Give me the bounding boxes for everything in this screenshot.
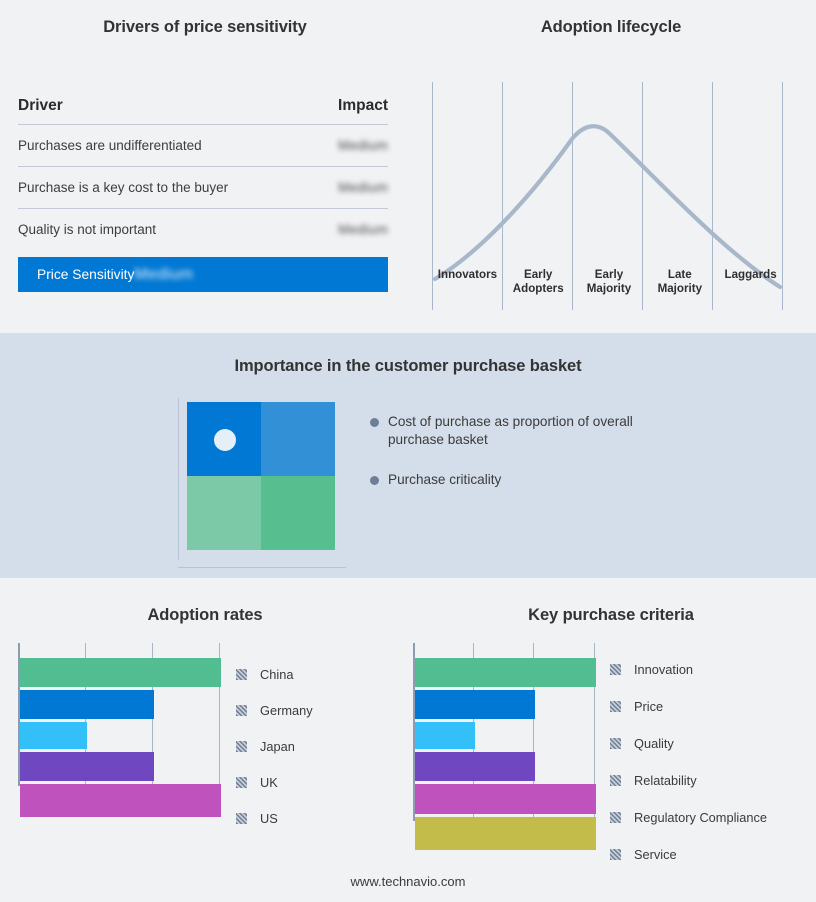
tick-label-text: Laggards: [724, 268, 776, 281]
bullet-dot-icon: [370, 476, 379, 485]
bar-uk: [20, 752, 154, 781]
legend-item-relatability: Relatability: [610, 773, 767, 788]
legend-item-innovation: Innovation: [610, 662, 767, 677]
tick-label-early-adopters: EarlyAdopters: [503, 268, 574, 295]
legend-item-china: China: [236, 667, 313, 682]
driver-name: Quality is not important: [18, 222, 296, 237]
purchase-basket-panel: Importance in the customer purchase bask…: [0, 333, 816, 578]
bar-us: [20, 784, 221, 817]
bar-price: [415, 690, 535, 719]
legend-item-quality: Quality: [610, 736, 767, 751]
bar-relatability: [415, 752, 535, 781]
legend-label: UK: [260, 775, 278, 790]
quadrant-x-axis: [178, 567, 346, 568]
legend-label: Innovation: [634, 662, 693, 677]
footer-url: www.technavio.com: [0, 874, 816, 889]
drivers-table-header: Driver Impact: [18, 88, 388, 124]
legend-label: Quality: [634, 736, 674, 751]
key-purchase-criteria-legend: Innovation Price Quality Relatability Re…: [610, 662, 767, 862]
table-row: Quality is not important Medium: [18, 209, 388, 250]
adoption-lifecycle-title: Adoption lifecycle: [406, 18, 816, 37]
adoption-lifecycle-panel: Adoption lifecycle Innovators EarlyAdopt…: [406, 0, 816, 320]
tick-label-early-majority: EarlyMajority: [574, 268, 645, 295]
quadrant-bottom-right: [261, 476, 335, 550]
legend-item: Purchase criticality: [370, 471, 670, 489]
legend-item: Cost of purchase as proportion of overal…: [370, 413, 670, 449]
adoption-rates-legend: China Germany Japan UK US: [236, 667, 313, 826]
legend-item-service: Service: [610, 847, 767, 862]
legend-item-us: US: [236, 811, 313, 826]
bullet-dot-icon: [370, 418, 379, 427]
driver-impact: Medium: [296, 138, 388, 153]
tick-label-text: Innovators: [438, 268, 497, 281]
legend-item-label: Purchase criticality: [388, 471, 501, 489]
driver-name: Purchase is a key cost to the buyer: [18, 180, 296, 195]
tick-label-late-majority: LateMajority: [644, 268, 715, 295]
quadrant-grid: [187, 402, 335, 550]
adoption-rates-title: Adoption rates: [0, 606, 410, 625]
driver-name: Purchases are undifferentiated: [18, 138, 296, 153]
bar-innovation: [415, 658, 596, 687]
key-purchase-criteria-plot: [413, 643, 598, 821]
legend-label: Germany: [260, 703, 313, 718]
legend-label: US: [260, 811, 278, 826]
legend-label: China: [260, 667, 293, 682]
key-purchase-criteria-panel: Key purchase criteria Innovation Price: [406, 578, 816, 902]
impact-value-redacted: Medium: [338, 180, 388, 195]
hatched-swatch-icon: [236, 669, 247, 680]
adoption-rates-plot: [18, 643, 221, 786]
hatched-swatch-icon: [236, 777, 247, 788]
column-header-driver: Driver: [18, 97, 296, 115]
drivers-table: Driver Impact Purchases are undifferenti…: [18, 88, 388, 292]
quadrant-bottom-left: [187, 476, 261, 550]
bar-service: [415, 817, 596, 850]
hatched-swatch-icon: [236, 741, 247, 752]
summary-row-impact: Medium: [134, 266, 193, 284]
legend-label: Japan: [260, 739, 295, 754]
adoption-lifecycle-tick-labels: Innovators EarlyAdopters EarlyMajority L…: [432, 268, 786, 295]
quadrant-top-right: [261, 402, 335, 476]
price-sensitivity-summary-row: Price Sensitivity Medium: [18, 257, 388, 292]
hatched-swatch-icon: [610, 849, 621, 860]
legend-item-regulatory-compliance: Regulatory Compliance: [610, 810, 767, 825]
purchase-basket-title: Importance in the customer purchase bask…: [0, 357, 816, 376]
bar-regulatory-compliance: [415, 784, 596, 814]
hatched-swatch-icon: [610, 775, 621, 786]
legend-label: Price: [634, 699, 663, 714]
hatched-swatch-icon: [236, 813, 247, 824]
impact-value-redacted: Medium: [338, 138, 388, 153]
adoption-curve: [435, 126, 780, 287]
impact-value-redacted: Medium: [338, 222, 388, 237]
drivers-panel: Drivers of price sensitivity Driver Impa…: [0, 0, 410, 320]
quadrant-top-left: [187, 402, 261, 476]
drivers-panel-title: Drivers of price sensitivity: [0, 18, 410, 37]
legend-item-germany: Germany: [236, 703, 313, 718]
impact-value-redacted: Medium: [134, 266, 193, 284]
data-point-marker: [214, 429, 236, 451]
key-purchase-criteria-title: Key purchase criteria: [406, 606, 816, 625]
purchase-basket-legend: Cost of purchase as proportion of overal…: [370, 413, 670, 511]
table-row: Purchase is a key cost to the buyer Medi…: [18, 167, 388, 208]
summary-row-label: Price Sensitivity: [37, 267, 134, 282]
quadrant-y-axis: [178, 398, 179, 560]
tick-label-laggards: Laggards: [715, 268, 786, 295]
legend-item-japan: Japan: [236, 739, 313, 754]
tick-label-innovators: Innovators: [432, 268, 503, 295]
quadrant-chart: [178, 398, 348, 568]
hatched-swatch-icon: [610, 664, 621, 675]
legend-label: Relatability: [634, 773, 697, 788]
bar-quality: [415, 722, 475, 749]
column-header-impact: Impact: [296, 97, 388, 115]
hatched-swatch-icon: [610, 738, 621, 749]
driver-impact: Medium: [296, 222, 388, 237]
legend-label: Service: [634, 847, 677, 862]
legend-label: Regulatory Compliance: [634, 810, 767, 825]
infographic-page: Drivers of price sensitivity Driver Impa…: [0, 0, 816, 902]
bar-japan: [20, 722, 87, 749]
hatched-swatch-icon: [610, 812, 621, 823]
driver-impact: Medium: [296, 180, 388, 195]
hatched-swatch-icon: [610, 701, 621, 712]
bar-germany: [20, 690, 154, 719]
table-row: Purchases are undifferentiated Medium: [18, 125, 388, 166]
adoption-rates-panel: Adoption rates China Germany Japa: [0, 578, 410, 902]
bar-china: [20, 658, 221, 687]
legend-item-uk: UK: [236, 775, 313, 790]
legend-item-price: Price: [610, 699, 767, 714]
legend-item-label: Cost of purchase as proportion of overal…: [388, 413, 640, 449]
hatched-swatch-icon: [236, 705, 247, 716]
